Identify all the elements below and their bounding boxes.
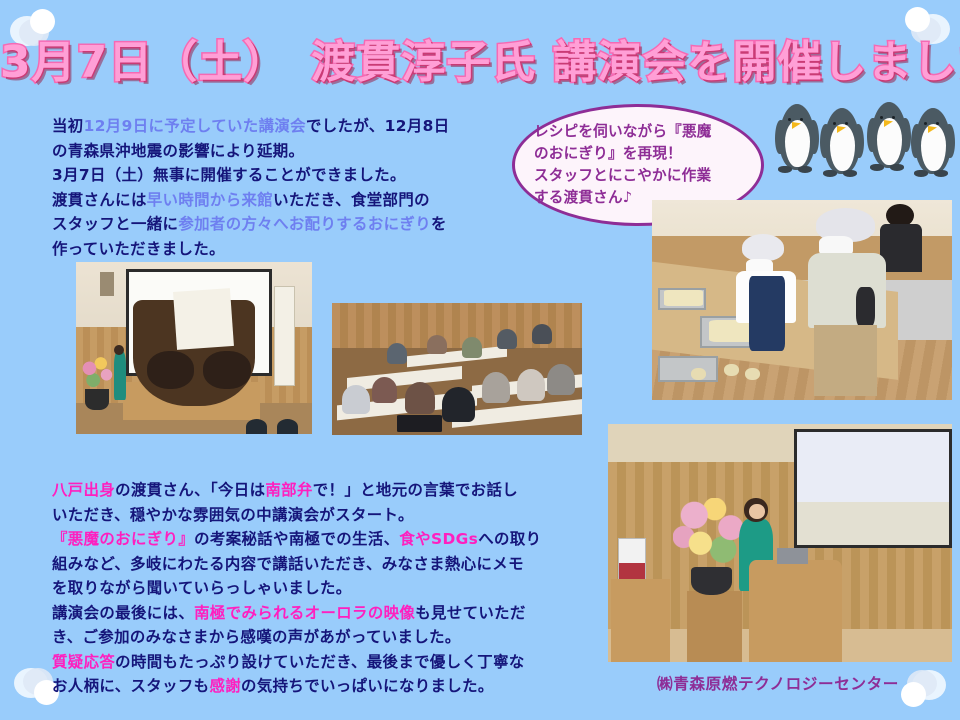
intro-paragraph: 当初12月9日に予定していた講演会でしたが、12月8日 の青森県沖地震の影響によ… xyxy=(52,114,522,261)
poster-canvas: 3月7日（土） 渡貫淳子氏 講演会を開催しました 当初12月9日に予定していた講… xyxy=(0,0,960,720)
penguin-icon xyxy=(868,100,910,184)
audience-photo xyxy=(332,303,582,435)
speaker-podium-photo xyxy=(608,424,952,662)
page-title: 3月7日（土） 渡貫淳子氏 講演会を開催しました xyxy=(0,26,960,90)
lecture-hall-screen-photo xyxy=(76,262,312,434)
speech-bubble-text: レシピを伺いながら『悪魔 のおにぎり』を再現！ スタッフとにこやかに作業 する渡… xyxy=(534,121,748,209)
report-paragraph: 八戸出身の渡貫さん、「今日は南部弁で！」と地元の言葉でお話し いただき、穏やかな… xyxy=(52,478,572,699)
organization-credit: ㈱青森原燃テクノロジーセンター xyxy=(604,672,952,694)
penguin-icon xyxy=(776,102,818,186)
penguin-group-icon xyxy=(776,100,954,188)
onigiri-making-photo xyxy=(652,200,952,400)
penguin-icon xyxy=(821,106,863,190)
penguin-icon xyxy=(912,106,954,190)
